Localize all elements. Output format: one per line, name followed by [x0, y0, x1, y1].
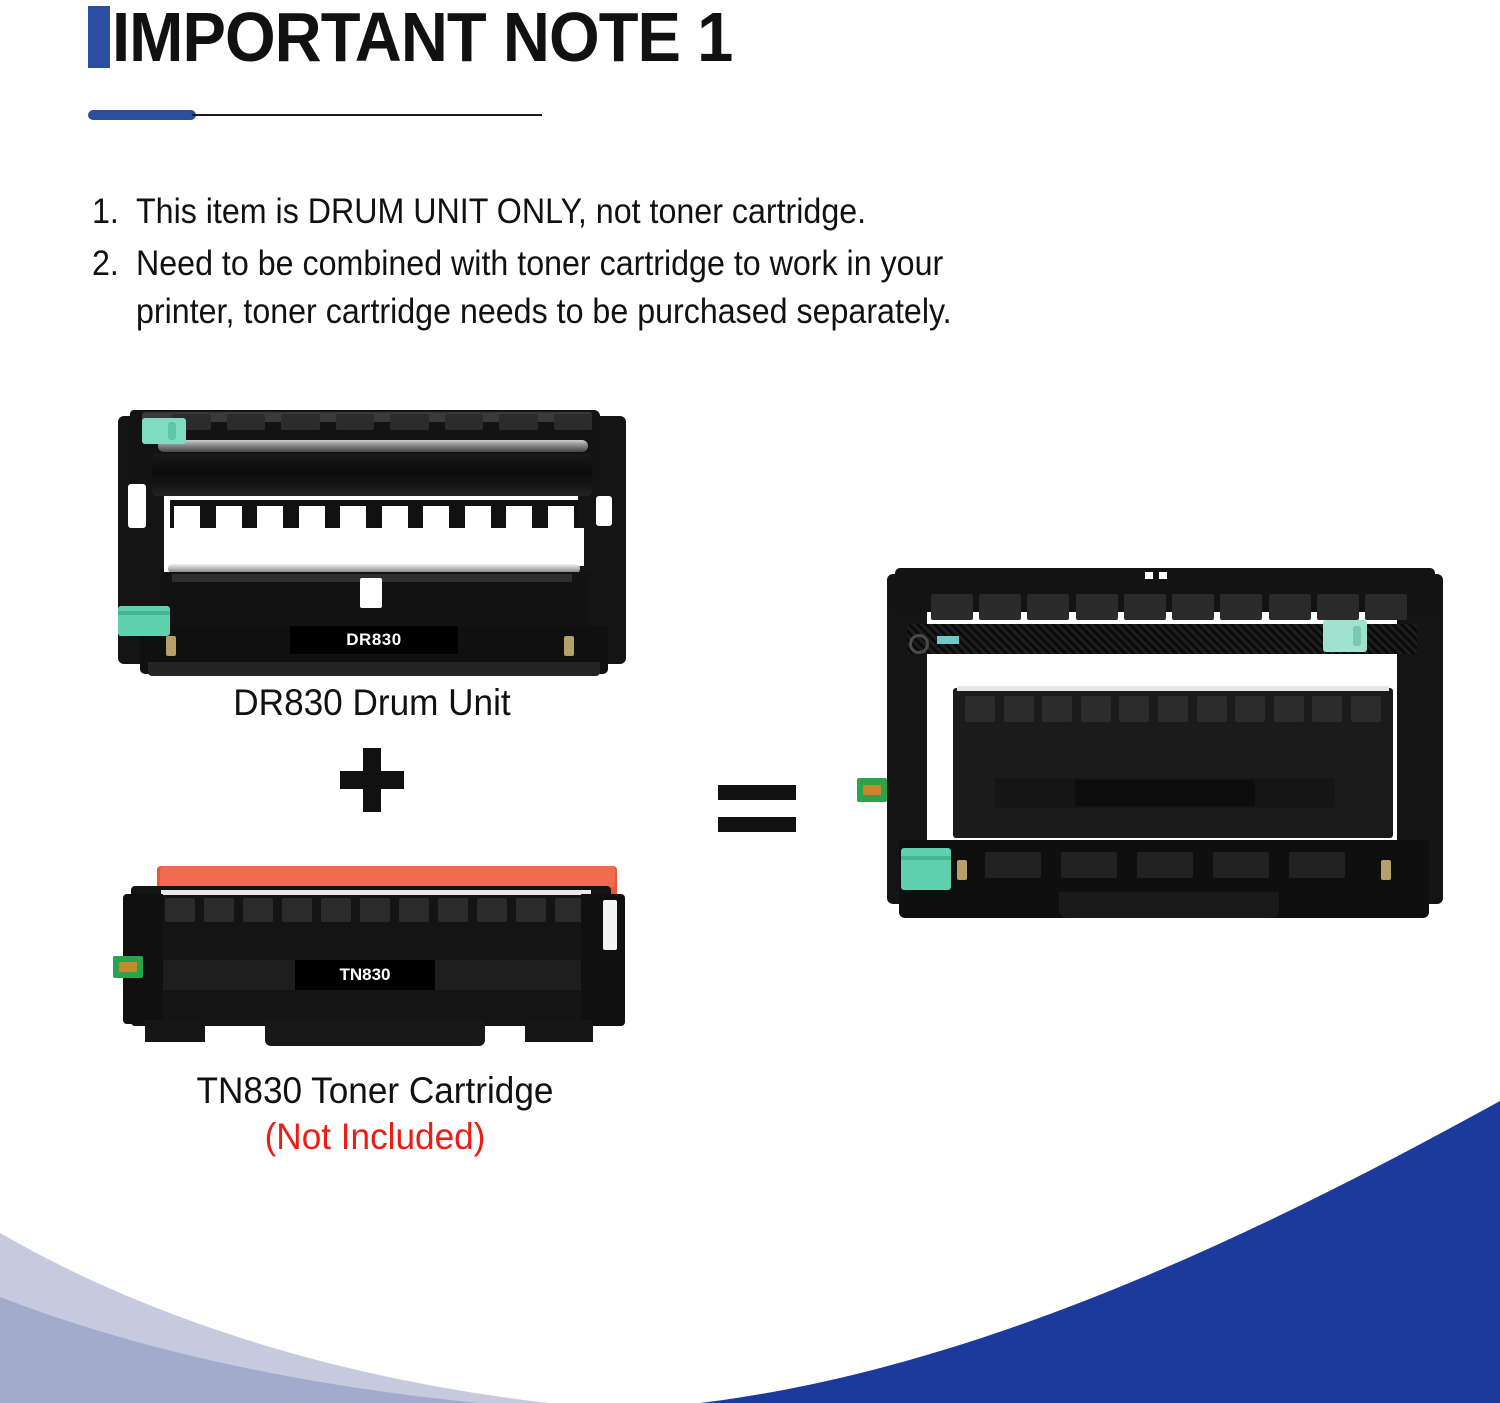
header: IMPORTANT NOTE 1 [0, 0, 1500, 150]
note-number: 2. [92, 240, 132, 288]
combo-left-gear [957, 860, 967, 880]
toner-model-label: TN830 [295, 960, 435, 990]
combo-chip [857, 778, 887, 802]
product-comparison: DR830 DR830 Drum Unit T [0, 370, 1500, 1200]
plus-icon [340, 748, 404, 812]
drum-model-label: DR830 [290, 626, 458, 654]
drum-left-gear [166, 636, 176, 656]
combo-bottom-handle [901, 848, 951, 890]
note-number: 1. [92, 188, 132, 236]
combo-top-vents [931, 594, 1407, 620]
toner-orange-strip [160, 866, 615, 888]
drum-bottom-handle [118, 606, 170, 636]
toner-white-tag [603, 900, 617, 950]
list-item: 2. Need to be combined with toner cartri… [92, 240, 1252, 336]
divider-thick-segment [88, 110, 196, 120]
combo-cartridge-vents [965, 696, 1381, 722]
title-accent-bar [88, 6, 110, 68]
equals-icon [718, 785, 796, 835]
combo-top-handle [1323, 620, 1367, 652]
combo-cartridge-inner-panel [1075, 780, 1255, 806]
note-text: This item is DRUM UNIT ONLY, not toner c… [136, 188, 866, 236]
wave-light-layer [0, 1289, 1500, 1403]
drum-white-tab [360, 578, 382, 608]
toner-foot-left [145, 1020, 205, 1042]
toner-caption: TN830 Toner Cartridge [109, 1070, 641, 1112]
notes-list: 1. This item is DRUM UNIT ONLY, not tone… [92, 188, 1252, 340]
combo-top-dots [1145, 572, 1171, 579]
drum-right-cutout [596, 496, 612, 526]
divider-thin-line [192, 114, 542, 116]
list-item: 1. This item is DRUM UNIT ONLY, not tone… [92, 188, 1252, 236]
drum-top-notches [172, 414, 592, 430]
wave-lighter-layer [0, 1233, 1500, 1403]
combo-base-slots [985, 852, 1345, 878]
page-title: IMPORTANT NOTE 1 [112, 4, 732, 70]
combo-cartridge-highlight [957, 686, 1389, 691]
combo-base-rail [1059, 892, 1279, 918]
drum-right-gear [564, 636, 574, 656]
note-text: Need to be combined with toner cartridge… [136, 240, 952, 336]
drum-comb-teeth [174, 506, 574, 528]
toner-foot-right [525, 1020, 593, 1042]
combo-teal-marker [937, 636, 959, 644]
toner-foot-center [265, 1020, 485, 1046]
toner-vents [165, 898, 585, 922]
combo-right-gear [1381, 860, 1391, 880]
drum-cylinder [152, 454, 592, 496]
page-title-row: IMPORTANT NOTE 1 [88, 4, 779, 70]
infographic-page: IMPORTANT NOTE 1 1. This item is DRUM UN… [0, 0, 1500, 1403]
drum-base-lip [148, 662, 600, 676]
drum-caption: DR830 Drum Unit [125, 682, 619, 724]
title-divider [88, 110, 543, 120]
toner-not-included-note: (Not Included) [109, 1116, 641, 1158]
toner-chip [113, 956, 143, 978]
toner-cartridge-image: TN830 [95, 860, 655, 1060]
toner-top-highlight [161, 890, 591, 895]
drum-unit-image: DR830 [112, 388, 632, 678]
combined-assembly-image [845, 560, 1485, 940]
drum-charge-roller [158, 440, 588, 452]
combo-ring-detail [909, 634, 929, 654]
drum-open-window [164, 528, 584, 566]
drum-top-handle [142, 418, 186, 444]
drum-left-cutout [128, 484, 146, 528]
